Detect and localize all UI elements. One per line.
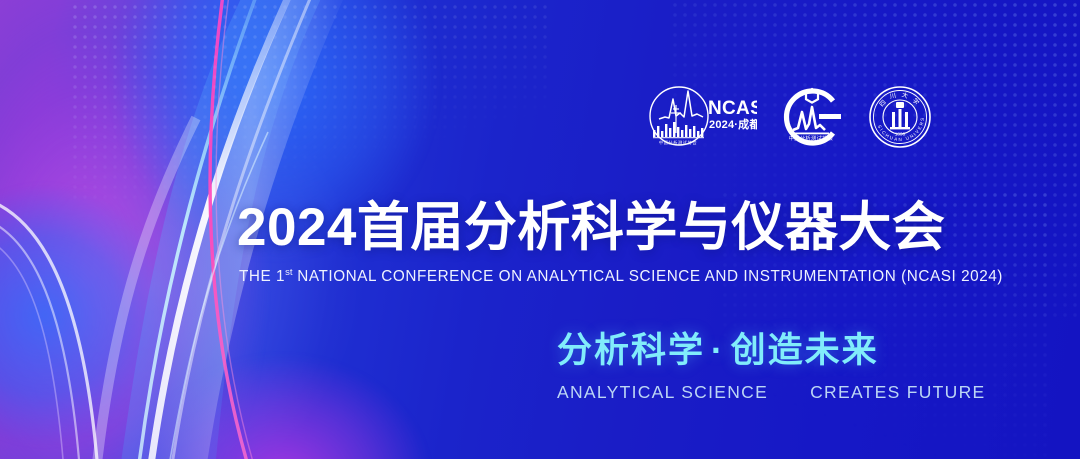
- tagline-english: ANALYTICAL SCIENCE CREATES FUTURE: [557, 382, 957, 403]
- title-block: 2024首届分析科学与仪器大会 THE 1st NATIONAL CONFERE…: [237, 199, 937, 286]
- tagline-cn-left: 分析科学: [557, 331, 705, 370]
- caia-society-logo-icon: 中国分析测试协会: [775, 84, 849, 150]
- ncasi-logo-year-city: 2024·成都: [709, 117, 757, 131]
- tagline-chinese: 分析科学·创造未来: [557, 322, 957, 373]
- logo-row: 中国分析测试协会 NCASI 2024·成都 中国分析测试协会: [645, 83, 933, 151]
- main-title: 2024首届分析科学与仪器大会: [237, 199, 937, 256]
- sub-title-ordinal-suffix: st: [285, 267, 292, 278]
- conference-banner: 中国分析测试协会 NCASI 2024·成都 中国分析测试协会: [0, 0, 1080, 459]
- scu-logo-founded-year: 1896: [895, 132, 906, 137]
- sub-title-rest: NATIONAL CONFERENCE ON ANALYTICAL SCIENC…: [293, 268, 1003, 285]
- ncasi-logo-arc-text: 中国分析测试协会: [659, 139, 698, 146]
- banner-content: 中国分析测试协会 NCASI 2024·成都 中国分析测试协会: [0, 0, 1080, 459]
- tagline-en-left: ANALYTICAL SCIENCE: [557, 382, 768, 403]
- tagline-en-right: CREATES FUTURE: [810, 382, 985, 403]
- ncasi-logo-acronym: NCASI: [708, 98, 757, 119]
- sichuan-university-logo-icon: 四川大学 SICHUAN UNIVERSITY 1896: [867, 84, 933, 150]
- tagline-block: 分析科学·创造未来 ANALYTICAL SCIENCE CREATES FUT…: [557, 322, 957, 403]
- sub-title: THE 1st NATIONAL CONFERENCE ON ANALYTICA…: [239, 267, 937, 286]
- ncasi-conference-logo-icon: 中国分析测试协会 NCASI 2024·成都: [645, 83, 757, 151]
- caia-logo-text: 中国分析测试协会: [789, 134, 834, 142]
- tagline-separator-dot: ·: [705, 331, 731, 370]
- sub-title-prefix: THE 1: [239, 268, 285, 285]
- tagline-cn-right: 创造未来: [731, 331, 879, 370]
